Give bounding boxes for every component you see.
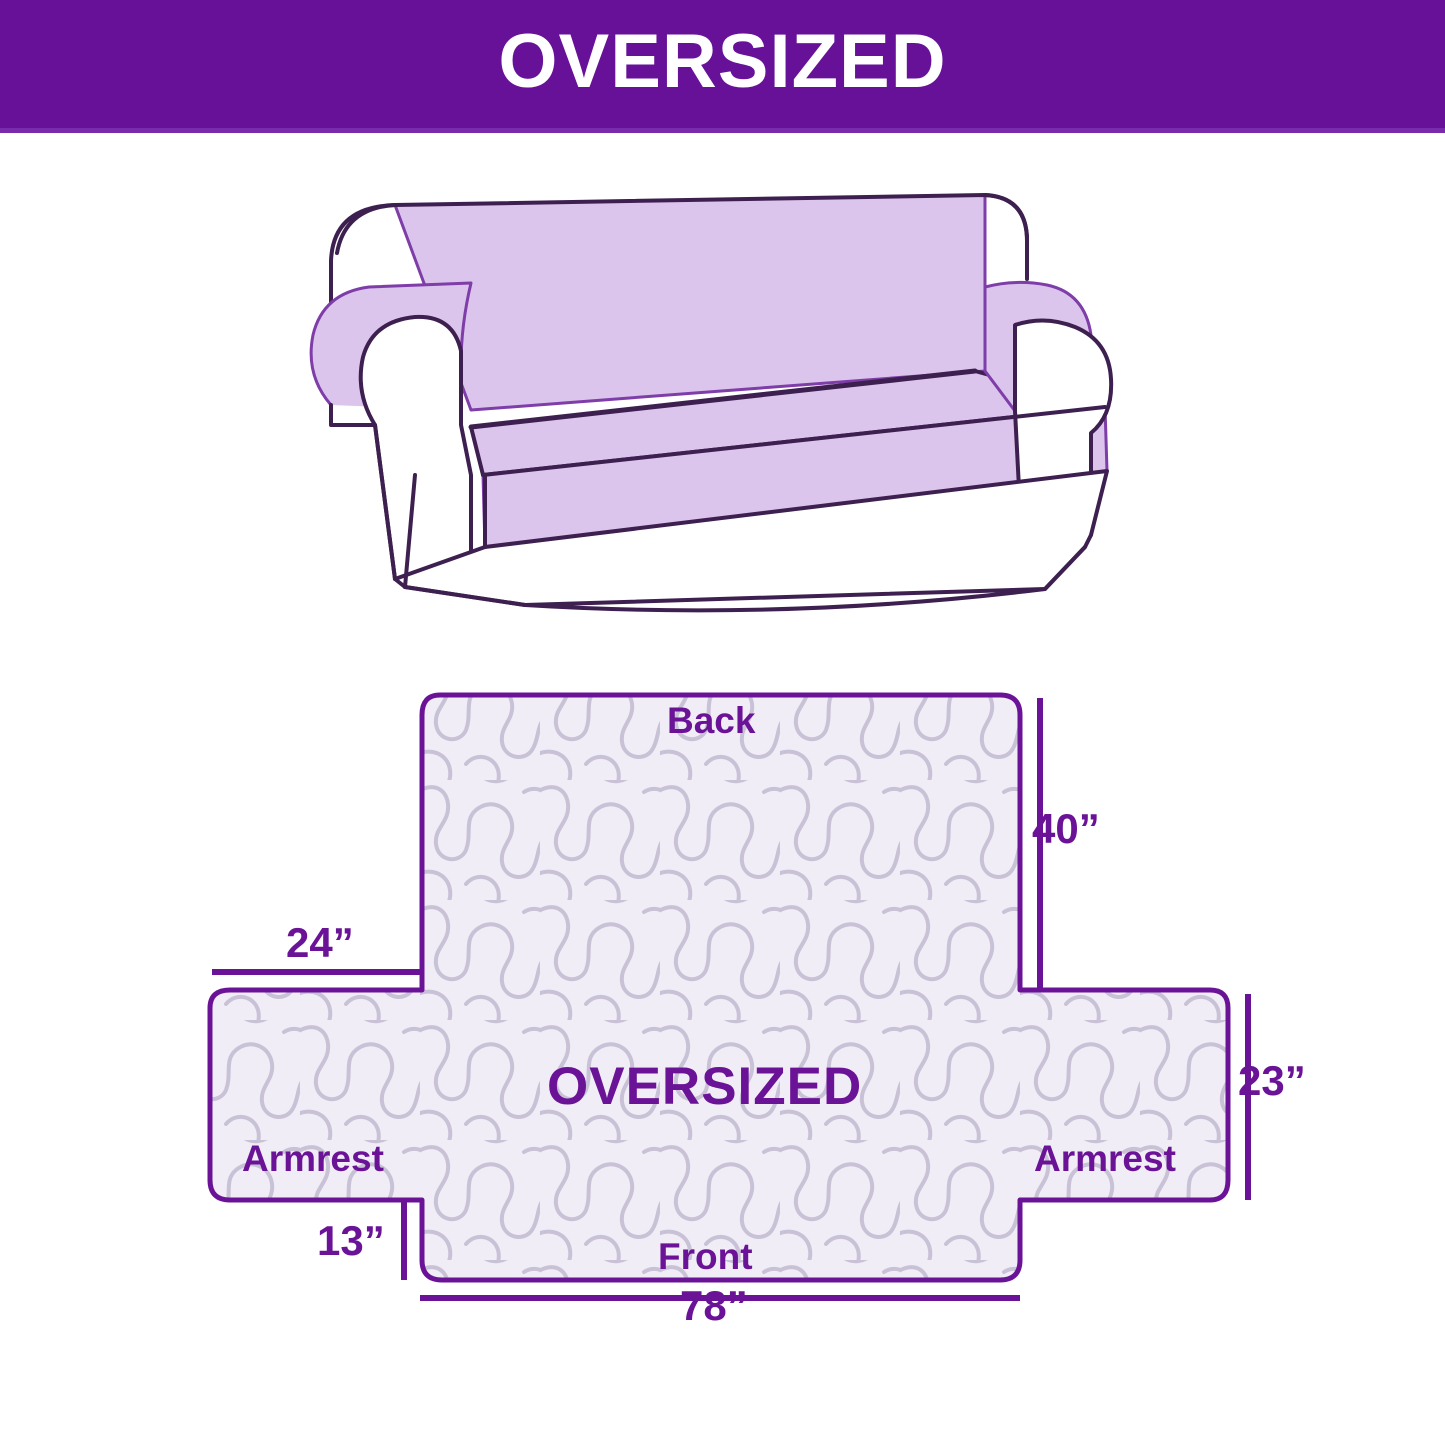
panel-label-back: Back: [667, 702, 755, 739]
page-title: OVERSIZED: [498, 24, 946, 100]
cover-outline: [210, 695, 1228, 1280]
sofa-back-top: [337, 205, 395, 253]
dimension-label-78: 78”: [680, 1285, 748, 1327]
size-name-label: OVERSIZED: [547, 1060, 862, 1113]
pattern-diagram: 40” 24” 23” 13” 78” Back Front Armrest A…: [180, 660, 1300, 1340]
panel-label-armrest-left: Armrest: [242, 1140, 384, 1177]
dimension-label-23: 23”: [1238, 1060, 1306, 1102]
header-banner: OVERSIZED: [0, 0, 1445, 133]
dimension-label-13: 13”: [317, 1220, 385, 1262]
panel-label-front: Front: [658, 1238, 753, 1275]
sofa-illustration: [285, 175, 1185, 625]
panel-label-armrest-right: Armrest: [1034, 1140, 1176, 1177]
dimension-label-40: 40”: [1032, 808, 1100, 850]
dimension-label-24: 24”: [286, 922, 354, 964]
